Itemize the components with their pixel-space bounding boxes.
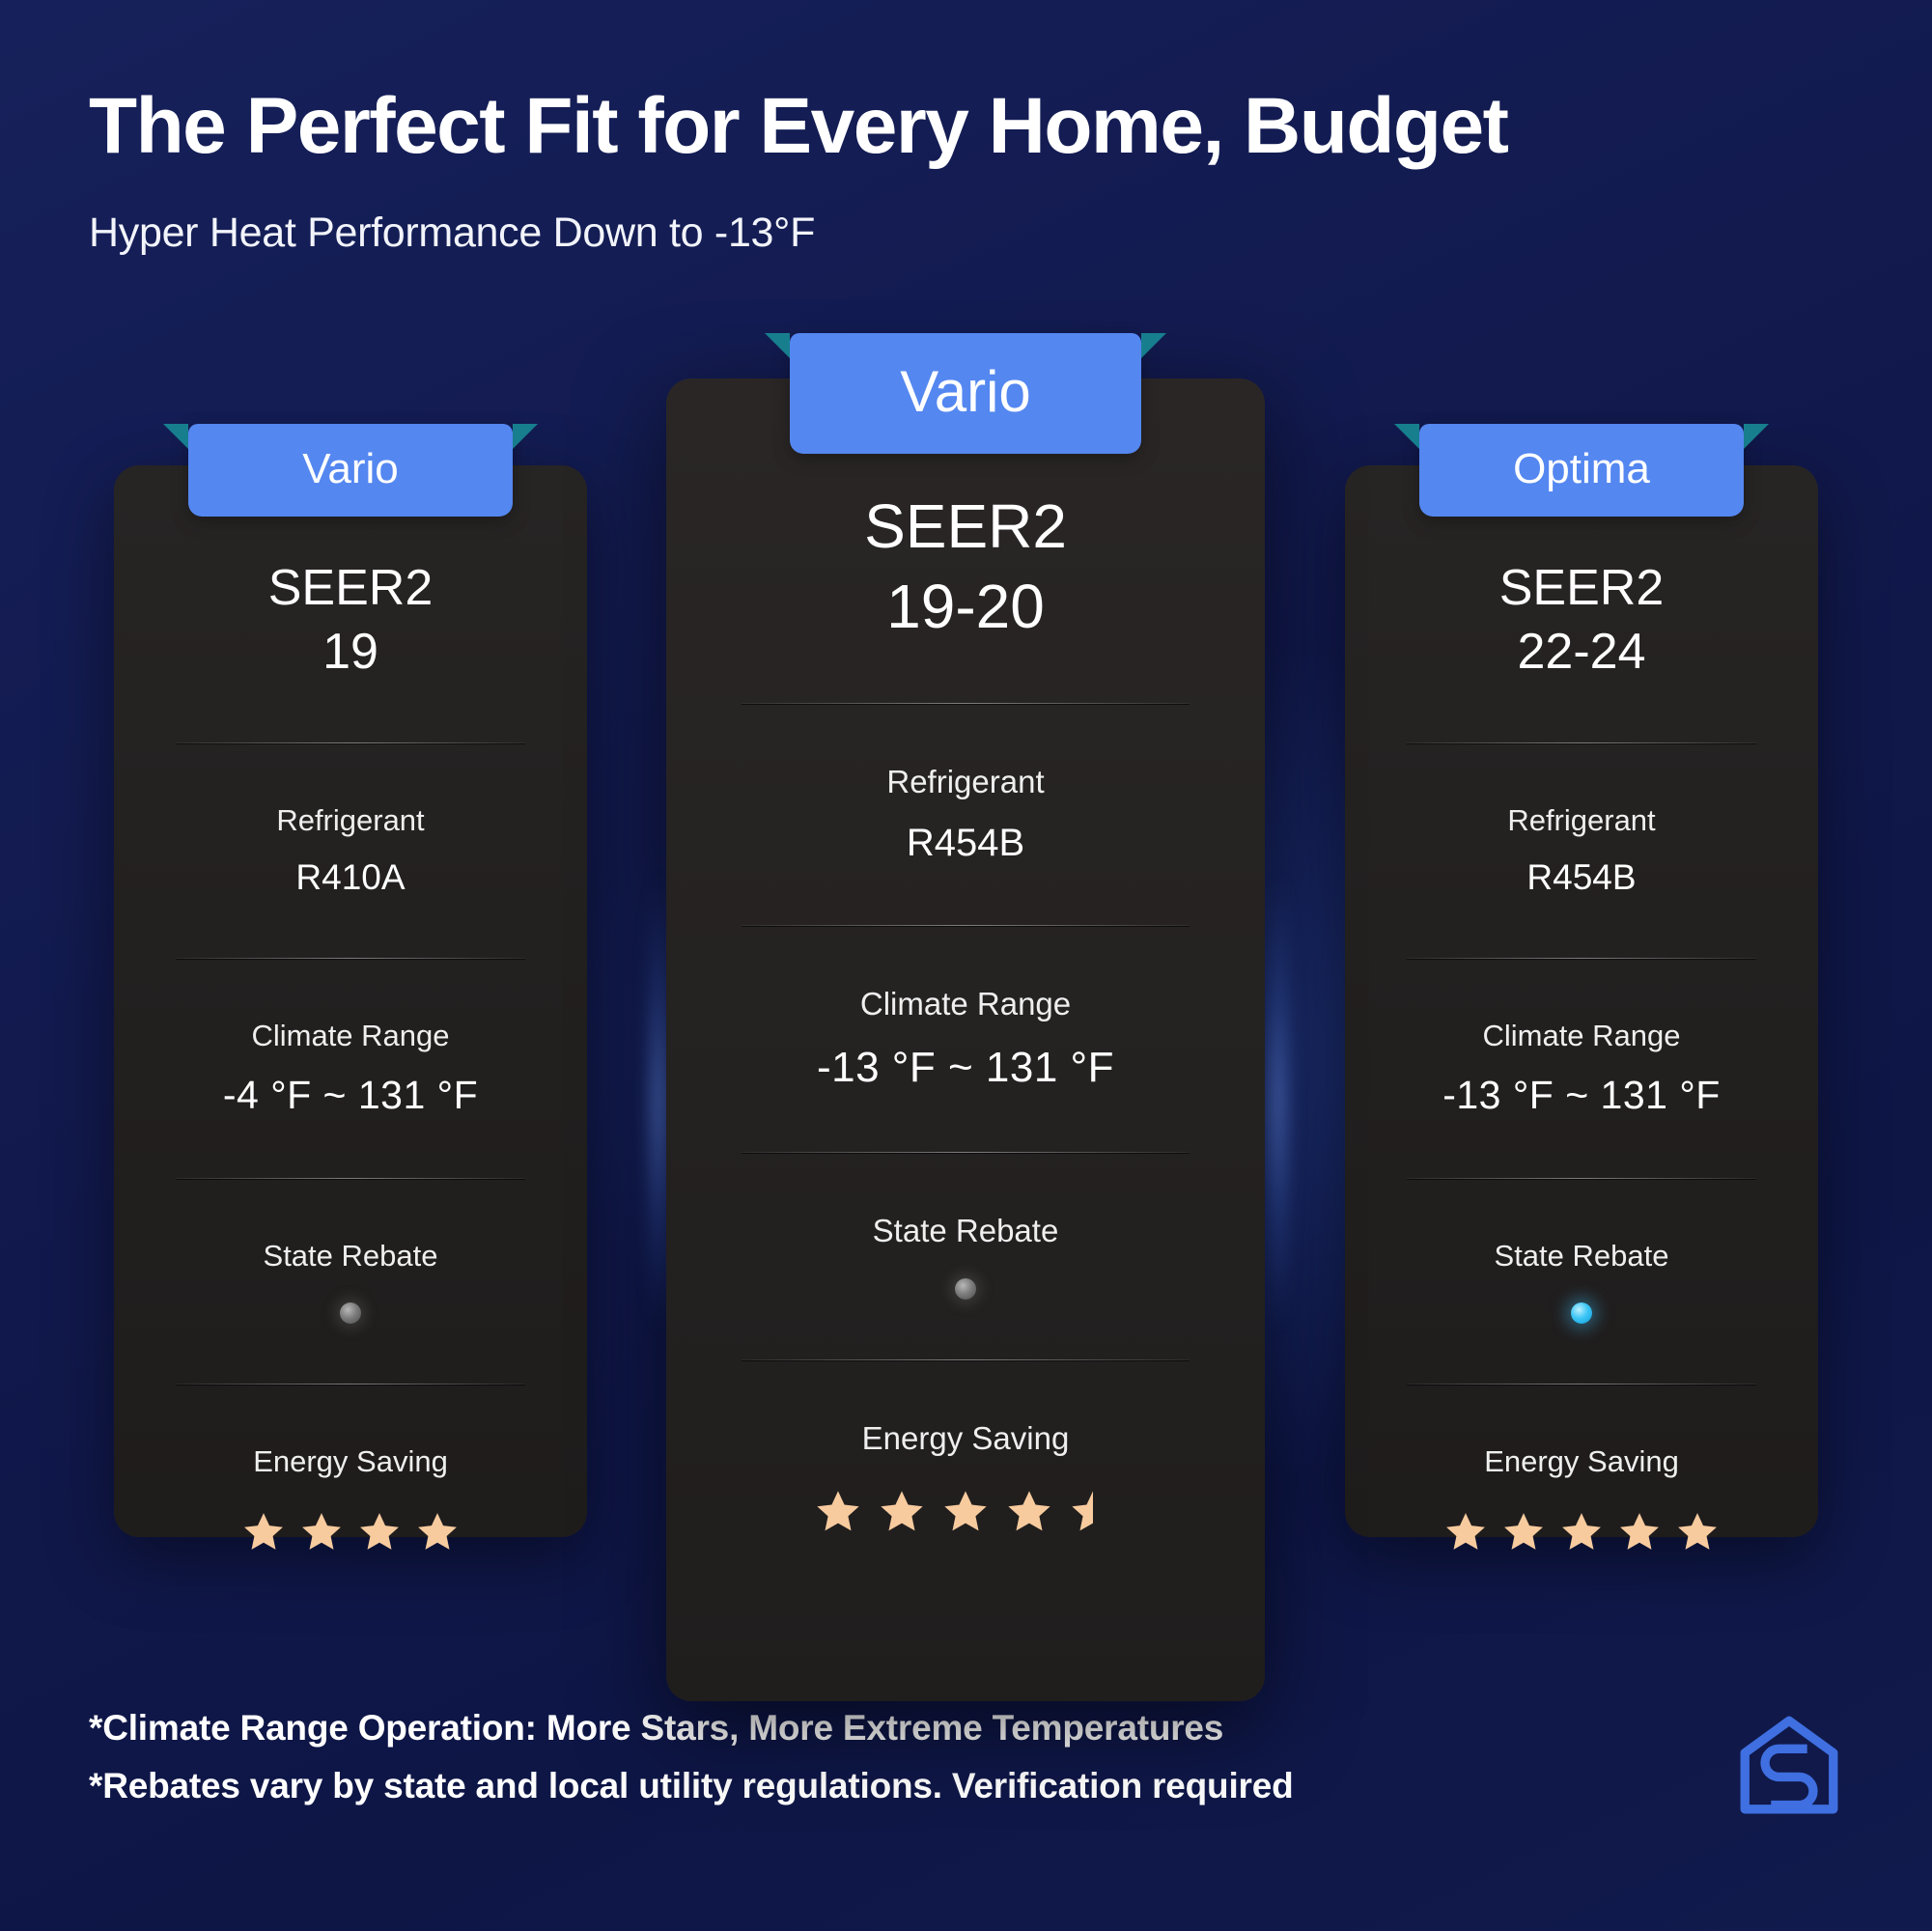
state-rebate-label: State Rebate — [742, 1213, 1190, 1249]
state-rebate-label: State Rebate — [1407, 1239, 1756, 1273]
divider — [176, 958, 525, 959]
state-rebate-indicator-wrap — [742, 1278, 1190, 1300]
star-icon — [415, 1510, 460, 1554]
refrigerant-value: R454B — [742, 822, 1190, 865]
divider — [742, 1152, 1190, 1153]
comparison-cards: Vario SEER2 19 Refrigerant R410A Climate… — [0, 378, 1932, 1692]
climate-range-value: -13 °F ~ 131 °F — [742, 1044, 1190, 1092]
state-rebate-dot-icon — [955, 1278, 976, 1300]
ribbon-wrap: Vario — [666, 333, 1265, 454]
card-body: SEER2 22-24 Refrigerant R454B Climate Ra… — [1345, 465, 1818, 1554]
ribbon-wrap: Vario — [114, 424, 587, 517]
footnote-rebates: *Rebates vary by state and local utility… — [89, 1757, 1653, 1815]
product-ribbon: Vario — [790, 333, 1141, 454]
seer-value: 19-20 — [742, 570, 1190, 644]
page-title: The Perfect Fit for Every Home, Budget — [89, 85, 1827, 169]
seer-label: SEER2 — [1407, 560, 1756, 616]
ribbon-fold-left-icon — [1394, 424, 1419, 449]
star-icon — [941, 1488, 990, 1536]
page-subtitle: Hyper Heat Performance Down to -13°F — [89, 210, 1827, 257]
star-icon — [814, 1488, 862, 1536]
climate-range-label: Climate Range — [1407, 1019, 1756, 1053]
product-card-vario-featured[interactable]: Vario SEER2 19-20 Refrigerant R454B Clim… — [666, 378, 1265, 1701]
house-logo — [1739, 1715, 1839, 1815]
star-icon — [1675, 1510, 1720, 1554]
refrigerant-label: Refrigerant — [176, 803, 525, 838]
product-ribbon: Optima — [1419, 424, 1744, 517]
footnotes: *Climate Range Operation: More Stars, Mo… — [89, 1699, 1653, 1815]
divider — [742, 703, 1190, 704]
state-rebate-dot-icon — [340, 1302, 361, 1324]
energy-saving-stars — [742, 1488, 1190, 1536]
seer-label: SEER2 — [176, 560, 525, 616]
energy-saving-label: Energy Saving — [1407, 1444, 1756, 1479]
divider — [1407, 742, 1756, 743]
divider — [1407, 1384, 1756, 1385]
product-card-vario-entry[interactable]: Vario SEER2 19 Refrigerant R410A Climate… — [114, 465, 587, 1537]
energy-saving-stars — [176, 1510, 525, 1554]
state-rebate-label: State Rebate — [176, 1239, 525, 1273]
seer-value: 22-24 — [1407, 622, 1756, 682]
divider — [742, 1359, 1190, 1360]
ribbon-fold-right-icon — [513, 424, 538, 449]
ribbon-fold-right-icon — [1744, 424, 1769, 449]
climate-range-value: -13 °F ~ 131 °F — [1407, 1073, 1756, 1118]
refrigerant-value: R454B — [1407, 857, 1756, 898]
ribbon-wrap: Optima — [1345, 424, 1818, 517]
seer-label: SEER2 — [742, 492, 1190, 562]
ribbon-label: Vario — [900, 359, 1031, 424]
star-icon — [357, 1510, 402, 1554]
seer-value: 19 — [176, 622, 525, 682]
star-icon — [1005, 1488, 1053, 1536]
divider — [176, 1384, 525, 1385]
star-icon — [241, 1510, 286, 1554]
ribbon-label: Optima — [1513, 445, 1650, 492]
refrigerant-label: Refrigerant — [1407, 803, 1756, 838]
climate-range-label: Climate Range — [742, 986, 1190, 1022]
energy-saving-label: Energy Saving — [742, 1420, 1190, 1457]
footnote-climate-range: *Climate Range Operation: More Stars, Mo… — [89, 1699, 1653, 1757]
refrigerant-value: R410A — [176, 857, 525, 898]
product-card-optima[interactable]: Optima SEER2 22-24 Refrigerant R454B Cli… — [1345, 465, 1818, 1537]
divider — [1407, 1178, 1756, 1179]
divider — [1407, 958, 1756, 959]
divider — [742, 925, 1190, 926]
half-star-icon — [1069, 1488, 1117, 1536]
climate-range-label: Climate Range — [176, 1019, 525, 1053]
state-rebate-dot-icon — [1571, 1302, 1592, 1324]
page-header: The Perfect Fit for Every Home, Budget H… — [89, 85, 1827, 257]
refrigerant-label: Refrigerant — [742, 764, 1190, 800]
ribbon-label: Vario — [302, 445, 398, 492]
ribbon-fold-left-icon — [163, 424, 188, 449]
star-icon — [299, 1510, 344, 1554]
star-icon — [1443, 1510, 1488, 1554]
state-rebate-indicator-wrap — [176, 1302, 525, 1324]
divider — [176, 1178, 525, 1179]
energy-saving-label: Energy Saving — [176, 1444, 525, 1479]
star-icon — [878, 1488, 926, 1536]
ribbon-fold-left-icon — [765, 333, 790, 358]
card-body: SEER2 19-20 Refrigerant R454B Climate Ra… — [666, 378, 1265, 1536]
climate-range-value: -4 °F ~ 131 °F — [176, 1073, 525, 1118]
star-icon — [1501, 1510, 1546, 1554]
star-icon — [1559, 1510, 1604, 1554]
card-body: SEER2 19 Refrigerant R410A Climate Range… — [114, 465, 587, 1554]
energy-saving-stars — [1407, 1510, 1756, 1554]
divider — [176, 742, 525, 743]
product-ribbon: Vario — [188, 424, 513, 517]
ribbon-fold-right-icon — [1141, 333, 1166, 358]
state-rebate-indicator-wrap — [1407, 1302, 1756, 1324]
star-icon — [1617, 1510, 1662, 1554]
